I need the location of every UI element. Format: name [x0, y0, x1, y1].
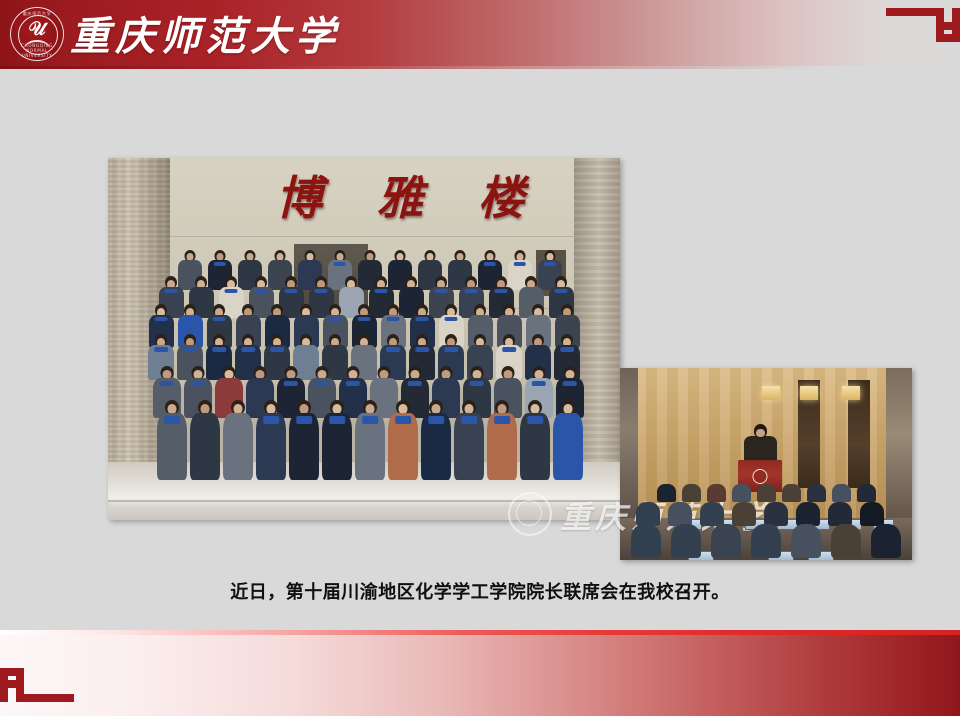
photo-person — [520, 400, 550, 480]
slide-caption: 近日，第十届川渝地区化学学工学院院长联席会在我校召开。 — [0, 578, 960, 604]
person-lanyard — [494, 416, 510, 424]
sign-char-1: 博 — [276, 162, 324, 228]
ornament-bar-vertical-2 — [952, 8, 960, 36]
sign-char-3: 楼 — [478, 162, 526, 228]
ornament-bar-horizontal — [16, 694, 74, 702]
audience-member — [700, 502, 724, 526]
person-lanyard — [329, 416, 345, 424]
group-photo-crowd — [156, 250, 576, 480]
audience-member — [668, 502, 692, 526]
person-lanyard — [560, 347, 574, 352]
person-lanyard — [314, 381, 329, 386]
audience-member — [796, 502, 820, 526]
audience-member — [682, 484, 701, 502]
seal-arc-top-text: 重庆师范大学 — [10, 11, 64, 17]
photo-person — [289, 400, 319, 480]
audience-member — [764, 502, 788, 526]
person-lanyard — [416, 317, 429, 321]
audience-member — [832, 484, 851, 502]
person-lanyard — [329, 317, 342, 321]
slide-canvas: 重庆师范大学 𝒰 CHONGQING NORMAL UNIVERSITY 重庆师… — [0, 0, 960, 720]
seal-center-glyph: 𝒰 — [10, 19, 64, 39]
person-lanyard — [495, 289, 508, 293]
person-lanyard — [255, 289, 268, 293]
person-lanyard — [212, 347, 226, 352]
photo-person — [487, 400, 517, 480]
audience-member — [782, 484, 801, 502]
university-name-title: 重庆师范大学 — [70, 6, 340, 60]
person-lanyard — [165, 289, 178, 293]
step-edge-line — [108, 500, 620, 502]
corner-ornament-top-right — [886, 8, 960, 50]
person-lanyard — [315, 289, 328, 293]
audience-member — [828, 502, 852, 526]
photo-person — [256, 400, 286, 480]
building-name-sign: 博 雅 楼 — [276, 164, 526, 226]
speaker-face — [756, 429, 765, 437]
wall-lamp — [842, 386, 860, 400]
wall-lamp — [762, 386, 780, 400]
audience-member — [631, 524, 661, 558]
wall-lamp — [800, 386, 818, 400]
footer-baseline — [0, 716, 960, 720]
person-lanyard — [465, 289, 478, 293]
person-body — [190, 413, 220, 480]
person-lanyard — [531, 381, 546, 386]
conference-stone-left — [620, 368, 638, 518]
person-lanyard — [241, 347, 255, 352]
person-lanyard — [395, 416, 411, 424]
person-lanyard — [544, 262, 556, 266]
audience-member — [732, 502, 756, 526]
person-lanyard — [387, 317, 400, 321]
photo-person — [157, 400, 187, 480]
photo-person — [553, 400, 583, 480]
person-lanyard — [334, 262, 346, 266]
audience-member — [636, 502, 660, 526]
photo-person — [355, 400, 385, 480]
audience-member — [871, 524, 901, 558]
person-lanyard — [502, 347, 516, 352]
podium-seal-icon — [753, 469, 768, 484]
person-lanyard — [213, 317, 226, 321]
person-lanyard — [386, 347, 400, 352]
photo-person — [454, 400, 484, 480]
person-lanyard — [445, 317, 458, 321]
person-lanyard — [263, 416, 279, 424]
person-lanyard — [362, 416, 378, 424]
person-lanyard — [190, 381, 205, 386]
person-lanyard — [214, 262, 226, 266]
person-lanyard — [283, 381, 298, 386]
audience-member — [791, 524, 821, 558]
photo-person — [322, 400, 352, 480]
photo-person — [421, 400, 451, 480]
person-lanyard — [469, 381, 484, 386]
seal-arc-bottom-text: CHONGQING NORMAL UNIVERSITY — [10, 43, 64, 58]
audience-member — [707, 484, 726, 502]
audience-member — [711, 524, 741, 558]
footer-banner — [0, 632, 960, 720]
audience-member — [757, 484, 776, 502]
audience-member — [807, 484, 826, 502]
photo-person — [223, 400, 253, 480]
footer-accent-line — [0, 630, 960, 635]
audience-member — [857, 484, 876, 502]
group-photo: 博 雅 楼 — [108, 158, 620, 520]
sign-char-2: 雅 — [377, 162, 425, 228]
person-lanyard — [225, 289, 238, 293]
person-lanyard — [484, 262, 496, 266]
ornament-bar-horizontal-3 — [0, 668, 16, 676]
person-lanyard — [562, 381, 577, 386]
conference-photo — [620, 368, 912, 560]
person-lanyard — [358, 317, 371, 321]
audience-member — [860, 502, 884, 526]
person-lanyard — [415, 347, 429, 352]
person-lanyard — [270, 347, 284, 352]
audience-member — [657, 484, 676, 502]
wall-seam — [108, 236, 620, 237]
photo-person — [190, 400, 220, 480]
audience-member — [831, 524, 861, 558]
person-lanyard — [345, 381, 360, 386]
person-lanyard — [407, 381, 422, 386]
corner-ornament-bottom-left — [0, 660, 74, 702]
person-lanyard — [164, 416, 180, 424]
person-lanyard — [560, 416, 576, 424]
person-lanyard — [159, 381, 174, 386]
photo-person — [388, 400, 418, 480]
person-body — [223, 413, 253, 480]
person-lanyard — [461, 416, 477, 424]
person-lanyard — [296, 416, 312, 424]
audience-member — [751, 524, 781, 558]
person-lanyard — [154, 347, 168, 352]
person-lanyard — [428, 416, 444, 424]
person-lanyard — [555, 289, 568, 293]
person-lanyard — [435, 289, 448, 293]
person-lanyard — [183, 347, 197, 352]
header-underline — [0, 66, 960, 69]
person-lanyard — [375, 289, 388, 293]
person-lanyard — [155, 317, 168, 321]
university-seal-logo: 重庆师范大学 𝒰 CHONGQING NORMAL UNIVERSITY — [10, 7, 64, 61]
person-lanyard — [444, 347, 458, 352]
ornament-bar-vertical-2 — [0, 674, 8, 702]
ornament-bar-horizontal-3 — [944, 34, 960, 42]
person-lanyard — [285, 289, 298, 293]
conference-stone-right — [886, 368, 912, 518]
audience-member — [671, 524, 701, 558]
person-lanyard — [527, 416, 543, 424]
person-lanyard — [514, 262, 526, 266]
audience-member — [732, 484, 751, 502]
